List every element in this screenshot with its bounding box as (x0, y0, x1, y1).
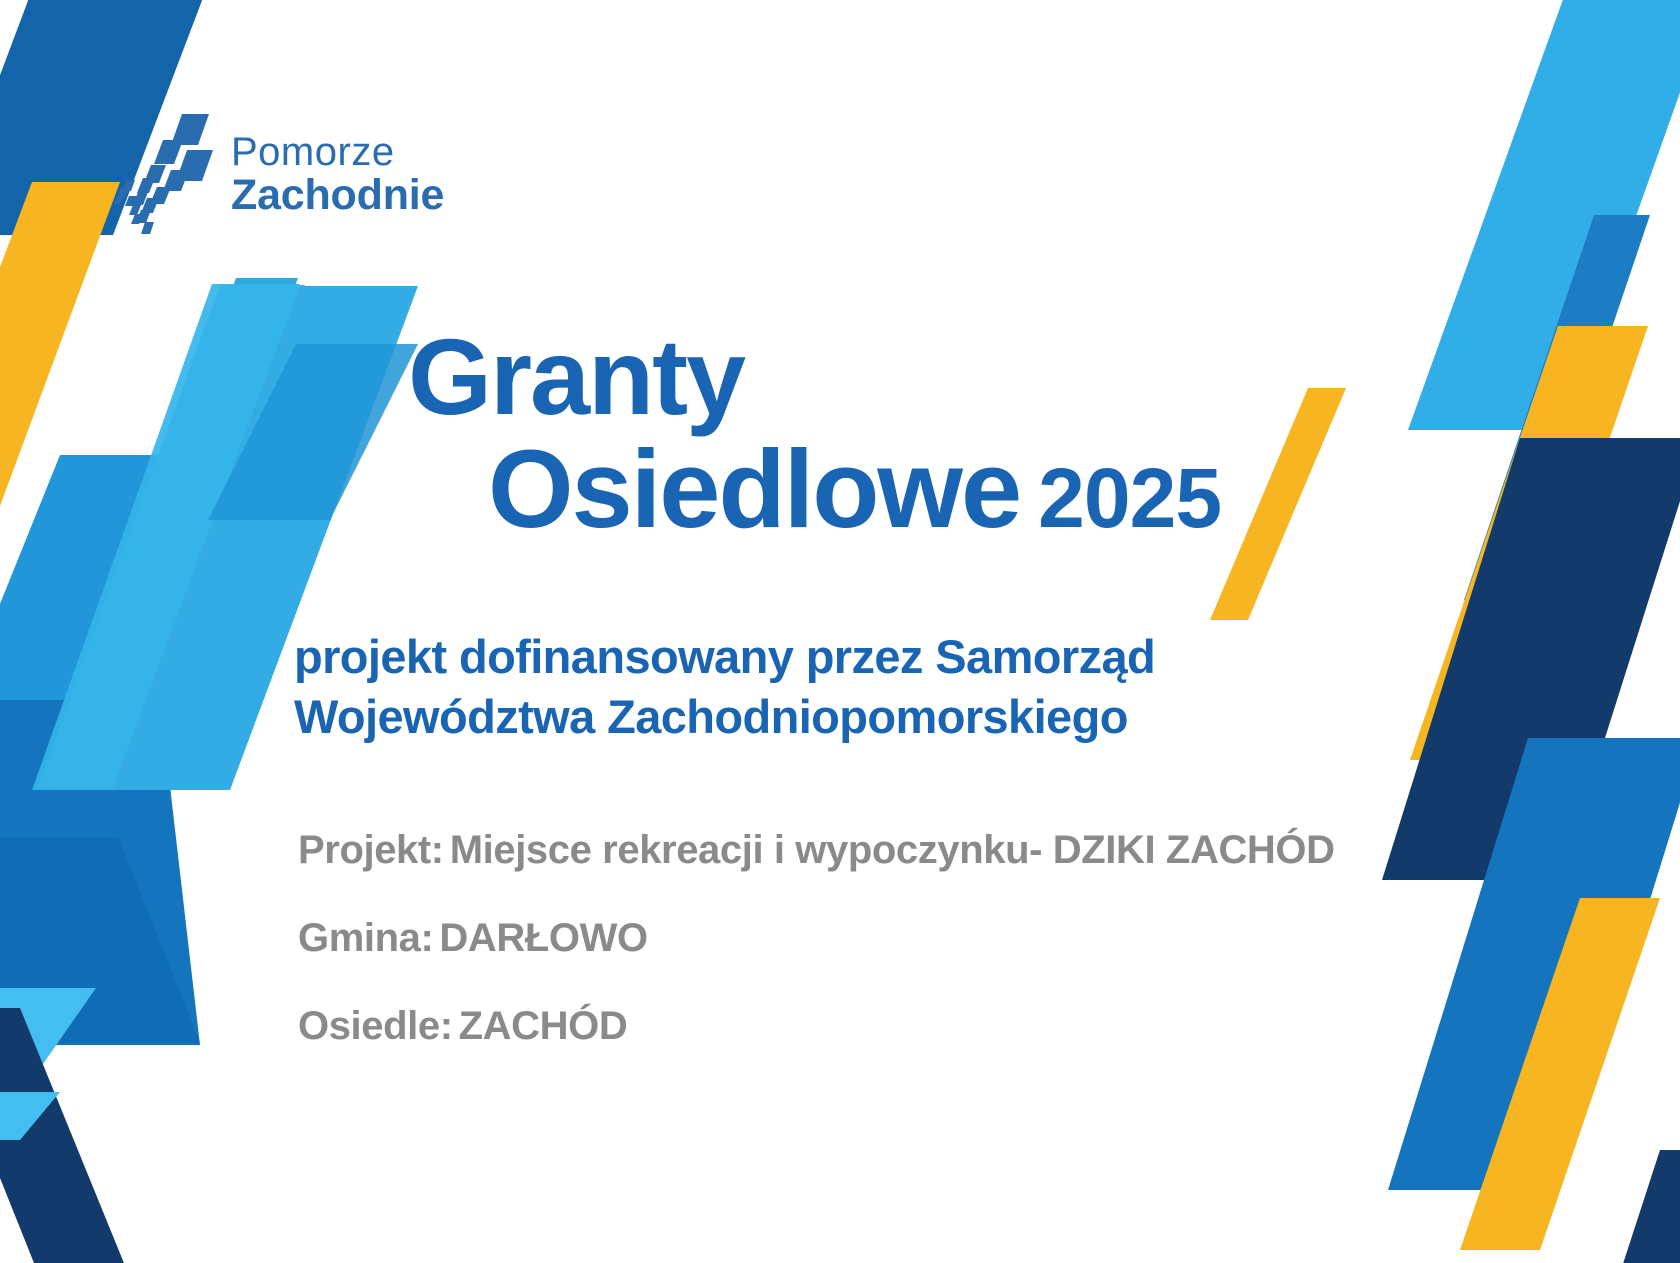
shape-left-yellow (0, 182, 120, 560)
project-details: Projekt:Miejsce rekreacji i wypoczynku- … (298, 826, 1498, 1050)
detail-value-gmina: DARŁOWO (439, 916, 647, 960)
headline-line-granty: Granty (408, 318, 1308, 436)
shape-left-lightblue-parallelogram (0, 988, 96, 1140)
detail-row-osiedle: Osiedle:ZACHÓD (298, 1002, 1498, 1050)
detail-value-osiedle: ZACHÓD (459, 1004, 628, 1048)
poster-subtitle: projekt dofinansowany przez Samorząd Woj… (294, 627, 1324, 747)
shape-right-yellow-band (1410, 326, 1648, 760)
shape-title-left-parallelogram (62, 286, 288, 788)
shape-title-overlap-band (208, 344, 418, 520)
detail-row-gmina: Gmina:DARŁOWO (298, 914, 1498, 962)
subtitle-line-1: projekt dofinansowany przez Samorząd (294, 627, 1324, 687)
logo-line-zachodnie: Zachodnie (231, 172, 443, 218)
detail-label-gmina: Gmina: (298, 916, 433, 960)
pixel-checkmark-icon (113, 110, 213, 236)
shape-left-bottom-sliver (0, 1092, 60, 1140)
logo-wordmark: Pomorze Zachodnie (231, 130, 443, 218)
shape-title-block-1 (234, 345, 376, 518)
pomorze-zachodnie-logo: Pomorze Zachodnie (113, 108, 443, 240)
logo-line-pomorze: Pomorze (231, 130, 443, 174)
poster-headline: Granty Osiedlowe2025 (408, 318, 1308, 550)
headline-year: 2025 (1038, 451, 1221, 545)
poster-canvas: Pomorze Zachodnie Granty Osiedlowe2025 p… (0, 0, 1680, 1263)
shape-left-wide-band (0, 455, 200, 1100)
shape-left-navy-stripe (0, 1008, 128, 1263)
shape-title-backdrop-light (32, 284, 300, 790)
shape-title-band-a (38, 285, 305, 787)
headline-line-osiedlowe-row: Osiedlowe2025 (488, 430, 1308, 550)
shape-right-top-lightblue (1408, 0, 1680, 430)
headline-word-osiedlowe: Osiedlowe (488, 428, 1020, 551)
shape-right-navy-block (1382, 438, 1680, 880)
shape-right-midblue-stripe (1464, 215, 1650, 600)
shape-right-navy-bottom (1620, 1150, 1680, 1263)
detail-label-osiedle: Osiedle: (298, 1004, 453, 1048)
subtitle-line-2: Województwa Zachodniopomorskiego (294, 687, 1324, 747)
detail-label-projekt: Projekt: (298, 828, 444, 872)
shape-left-midblue-band (0, 278, 298, 930)
shape-left-lower-blue-block (0, 700, 200, 1045)
detail-value-projekt: Miejsce rekreacji i wypoczynku- DZIKI ZA… (450, 828, 1335, 872)
detail-row-projekt: Projekt:Miejsce rekreacji i wypoczynku- … (298, 826, 1498, 874)
shape-left-deep-arrow (0, 838, 200, 1043)
